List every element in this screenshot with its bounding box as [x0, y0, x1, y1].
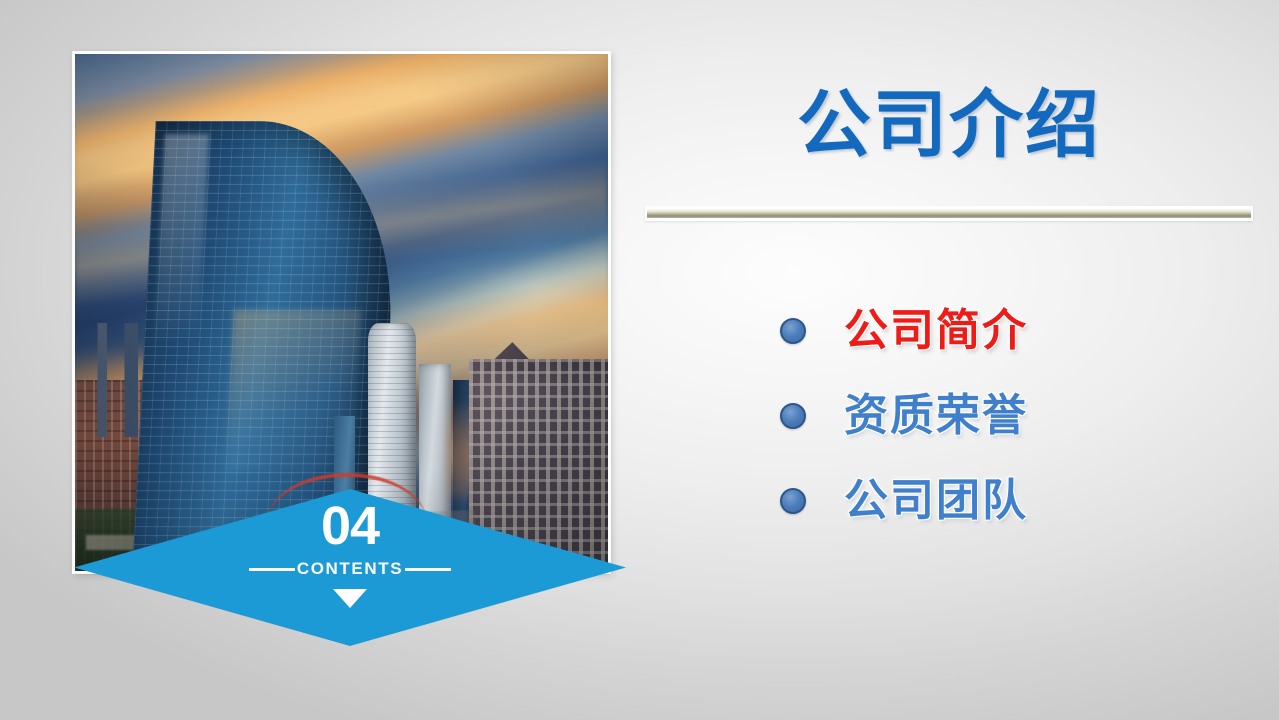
agenda-list: 公司简介 资质荣誉 公司团队: [780, 288, 1250, 543]
title-divider: [645, 206, 1253, 221]
page-title: 公司介绍: [645, 82, 1253, 167]
agenda-item-label: 公司简介: [844, 309, 1028, 353]
divider-bar: [647, 209, 1251, 218]
agenda-item-label: 公司团队: [844, 479, 1028, 523]
bullet-dot-icon: [780, 318, 806, 344]
agenda-item-company-profile[interactable]: 公司简介: [780, 288, 1250, 373]
bullet-dot-icon: [780, 403, 806, 429]
presentation-slide: 04 CONTENTS 公司介绍 公司简介 资质荣誉 公司团队: [0, 0, 1279, 720]
agenda-item-label: 资质荣誉: [844, 394, 1028, 438]
agenda-item-qualifications[interactable]: 资质荣誉: [780, 373, 1250, 458]
bullet-dot-icon: [780, 488, 806, 514]
agenda-item-team[interactable]: 公司团队: [780, 458, 1250, 543]
